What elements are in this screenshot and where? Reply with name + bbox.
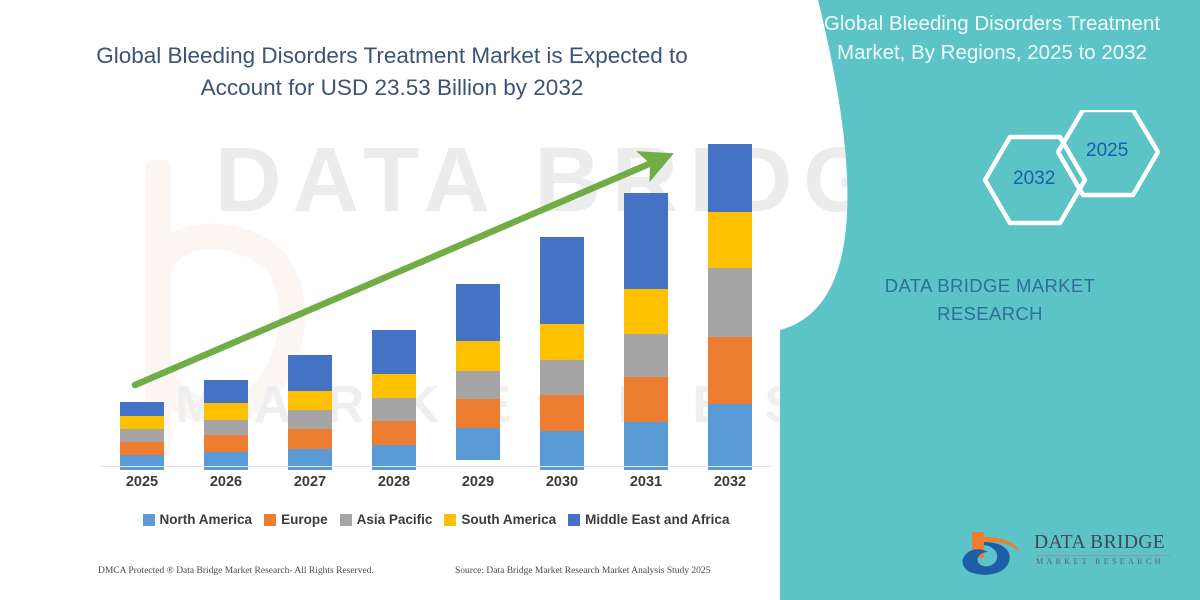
hexagon-group: 2032 2025	[780, 110, 1200, 230]
bar-segment-2025-middle-east-and-africa[interactable]	[120, 402, 164, 416]
chart-legend: North AmericaEuropeAsia PacificSouth Ame…	[100, 512, 772, 527]
bar-segment-2028-asia-pacific[interactable]	[372, 398, 416, 421]
bar-segment-2025-asia-pacific[interactable]	[120, 429, 164, 442]
right-panel-title-line-1: Global Bleeding Disorders Treatment	[824, 12, 1160, 35]
bar-column-2029[interactable]	[456, 284, 500, 470]
bar-segment-2031-europe[interactable]	[624, 377, 668, 422]
hexagon-year-2025: 2025	[1086, 140, 1128, 162]
bar-segment-2026-europe[interactable]	[204, 435, 248, 452]
x-axis-label-2025: 2025	[100, 474, 184, 490]
footer-dmca-text: DMCA Protected ® Data Bridge Market Rese…	[98, 566, 374, 576]
bar-column-2025[interactable]	[120, 402, 164, 470]
x-axis-label-2027: 2027	[268, 474, 352, 490]
bar-segment-2030-south-america[interactable]	[540, 324, 584, 361]
bar-segment-2028-europe[interactable]	[372, 421, 416, 445]
legend-swatch-icon	[444, 514, 456, 526]
right-panel-brand-line-2: RESEARCH	[937, 303, 1043, 324]
x-axis-label-2030: 2030	[520, 474, 604, 490]
bar-segment-2030-asia-pacific[interactable]	[540, 360, 584, 394]
footer-source-text: Source: Data Bridge Market Research Mark…	[455, 566, 710, 576]
bar-column-2030[interactable]	[540, 237, 584, 470]
bar-segment-2028-middle-east-and-africa[interactable]	[372, 330, 416, 374]
bar-segment-2026-asia-pacific[interactable]	[204, 420, 248, 436]
hexagon-outlines	[780, 110, 1200, 230]
legend-swatch-icon	[568, 514, 580, 526]
right-panel-brand-line-1: DATA BRIDGE MARKET	[885, 275, 1096, 296]
x-axis-label-2031: 2031	[604, 474, 688, 490]
bar-segment-2032-middle-east-and-africa[interactable]	[708, 144, 752, 212]
bar-segment-2030-europe[interactable]	[540, 395, 584, 432]
bar-segment-2027-south-america[interactable]	[288, 391, 332, 411]
legend-swatch-icon	[340, 514, 352, 526]
footer: DMCA Protected ® Data Bridge Market Rese…	[0, 566, 790, 588]
bar-segment-2032-north-america[interactable]	[708, 404, 752, 470]
legend-swatch-icon	[264, 514, 276, 526]
bar-segment-2027-europe[interactable]	[288, 429, 332, 449]
right-panel-brand: DATA BRIDGE MARKET RESEARCH	[820, 272, 1160, 328]
bar-segment-2027-asia-pacific[interactable]	[288, 410, 332, 429]
bar-segment-2029-europe[interactable]	[456, 399, 500, 428]
x-axis-label-2026: 2026	[184, 474, 268, 490]
legend-label: North America	[160, 512, 253, 527]
legend-item-asia-pacific[interactable]: Asia Pacific	[340, 512, 433, 527]
bar-segment-2029-middle-east-and-africa[interactable]	[456, 284, 500, 341]
legend-label: South America	[461, 512, 556, 527]
legend-item-south-america[interactable]: South America	[444, 512, 556, 527]
x-axis-line	[100, 466, 772, 467]
left-chart-panel: DATA BRIDGE M A R K E T R E S E A R C H …	[0, 0, 880, 600]
bar-segment-2025-south-america[interactable]	[120, 416, 164, 430]
page-title-line-1: Global Bleeding Disorders Treatment Mark…	[96, 43, 688, 68]
logo-wordmark: DATA BRIDGE	[1034, 532, 1165, 554]
bar-segment-2031-north-america[interactable]	[624, 422, 668, 470]
bar-segment-2028-south-america[interactable]	[372, 374, 416, 398]
bar-column-2026[interactable]	[204, 380, 248, 470]
x-axis-label-2029: 2029	[436, 474, 520, 490]
logo-mark-icon	[958, 528, 1028, 582]
bar-segment-2025-europe[interactable]	[120, 442, 164, 456]
logo-tagline: MARKET RESEARCH	[1036, 557, 1164, 566]
bar-segment-2030-north-america[interactable]	[540, 431, 584, 470]
bar-segment-2031-south-america[interactable]	[624, 289, 668, 334]
bar-segment-2025-north-america[interactable]	[120, 455, 164, 470]
bar-segment-2026-north-america[interactable]	[204, 452, 248, 470]
x-axis-label-2028: 2028	[352, 474, 436, 490]
bar-segment-2031-middle-east-and-africa[interactable]	[624, 193, 668, 289]
x-axis-labels: 20252026202720282029203020312032	[100, 474, 772, 498]
bar-segment-2027-middle-east-and-africa[interactable]	[288, 355, 332, 391]
legend-label: Europe	[281, 512, 328, 527]
bar-segment-2032-south-america[interactable]	[708, 212, 752, 268]
legend-item-middle-east-and-africa[interactable]: Middle East and Africa	[568, 512, 729, 527]
bar-column-2028[interactable]	[372, 330, 416, 470]
page-title: Global Bleeding Disorders Treatment Mark…	[72, 40, 712, 104]
bar-segment-2032-asia-pacific[interactable]	[708, 268, 752, 337]
legend-label: Middle East and Africa	[585, 512, 729, 527]
bar-segment-2026-south-america[interactable]	[204, 403, 248, 420]
bar-column-2032[interactable]	[708, 144, 752, 470]
legend-label: Asia Pacific	[357, 512, 433, 527]
bar-column-2031[interactable]	[624, 193, 668, 470]
x-axis-label-2032: 2032	[688, 474, 772, 490]
bar-segment-2029-north-america[interactable]	[456, 428, 500, 459]
right-panel-title-line-2: Market, By Regions, 2025 to 2032	[837, 41, 1147, 64]
bar-column-2027[interactable]	[288, 355, 332, 470]
bar-segment-2031-asia-pacific[interactable]	[624, 334, 668, 377]
page-title-line-2: Account for USD 23.53 Billion by 2032	[201, 75, 584, 100]
right-branding-panel: Global Bleeding Disorders Treatment Mark…	[780, 0, 1200, 600]
legend-item-north-america[interactable]: North America	[143, 512, 253, 527]
bar-segment-2030-middle-east-and-africa[interactable]	[540, 237, 584, 324]
stacked-bar-chart	[100, 140, 780, 470]
legend-swatch-icon	[143, 514, 155, 526]
data-bridge-logo: DATA BRIDGE MARKET RESEARCH	[958, 528, 1188, 584]
legend-item-europe[interactable]: Europe	[264, 512, 328, 527]
bar-segment-2029-asia-pacific[interactable]	[456, 371, 500, 399]
right-panel-title: Global Bleeding Disorders Treatment Mark…	[800, 10, 1184, 67]
bar-segment-2029-south-america[interactable]	[456, 341, 500, 370]
bar-segment-2026-middle-east-and-africa[interactable]	[204, 380, 248, 403]
hexagon-year-2032: 2032	[1013, 168, 1055, 190]
logo-divider	[1036, 555, 1170, 556]
bar-segment-2032-europe[interactable]	[708, 337, 752, 404]
